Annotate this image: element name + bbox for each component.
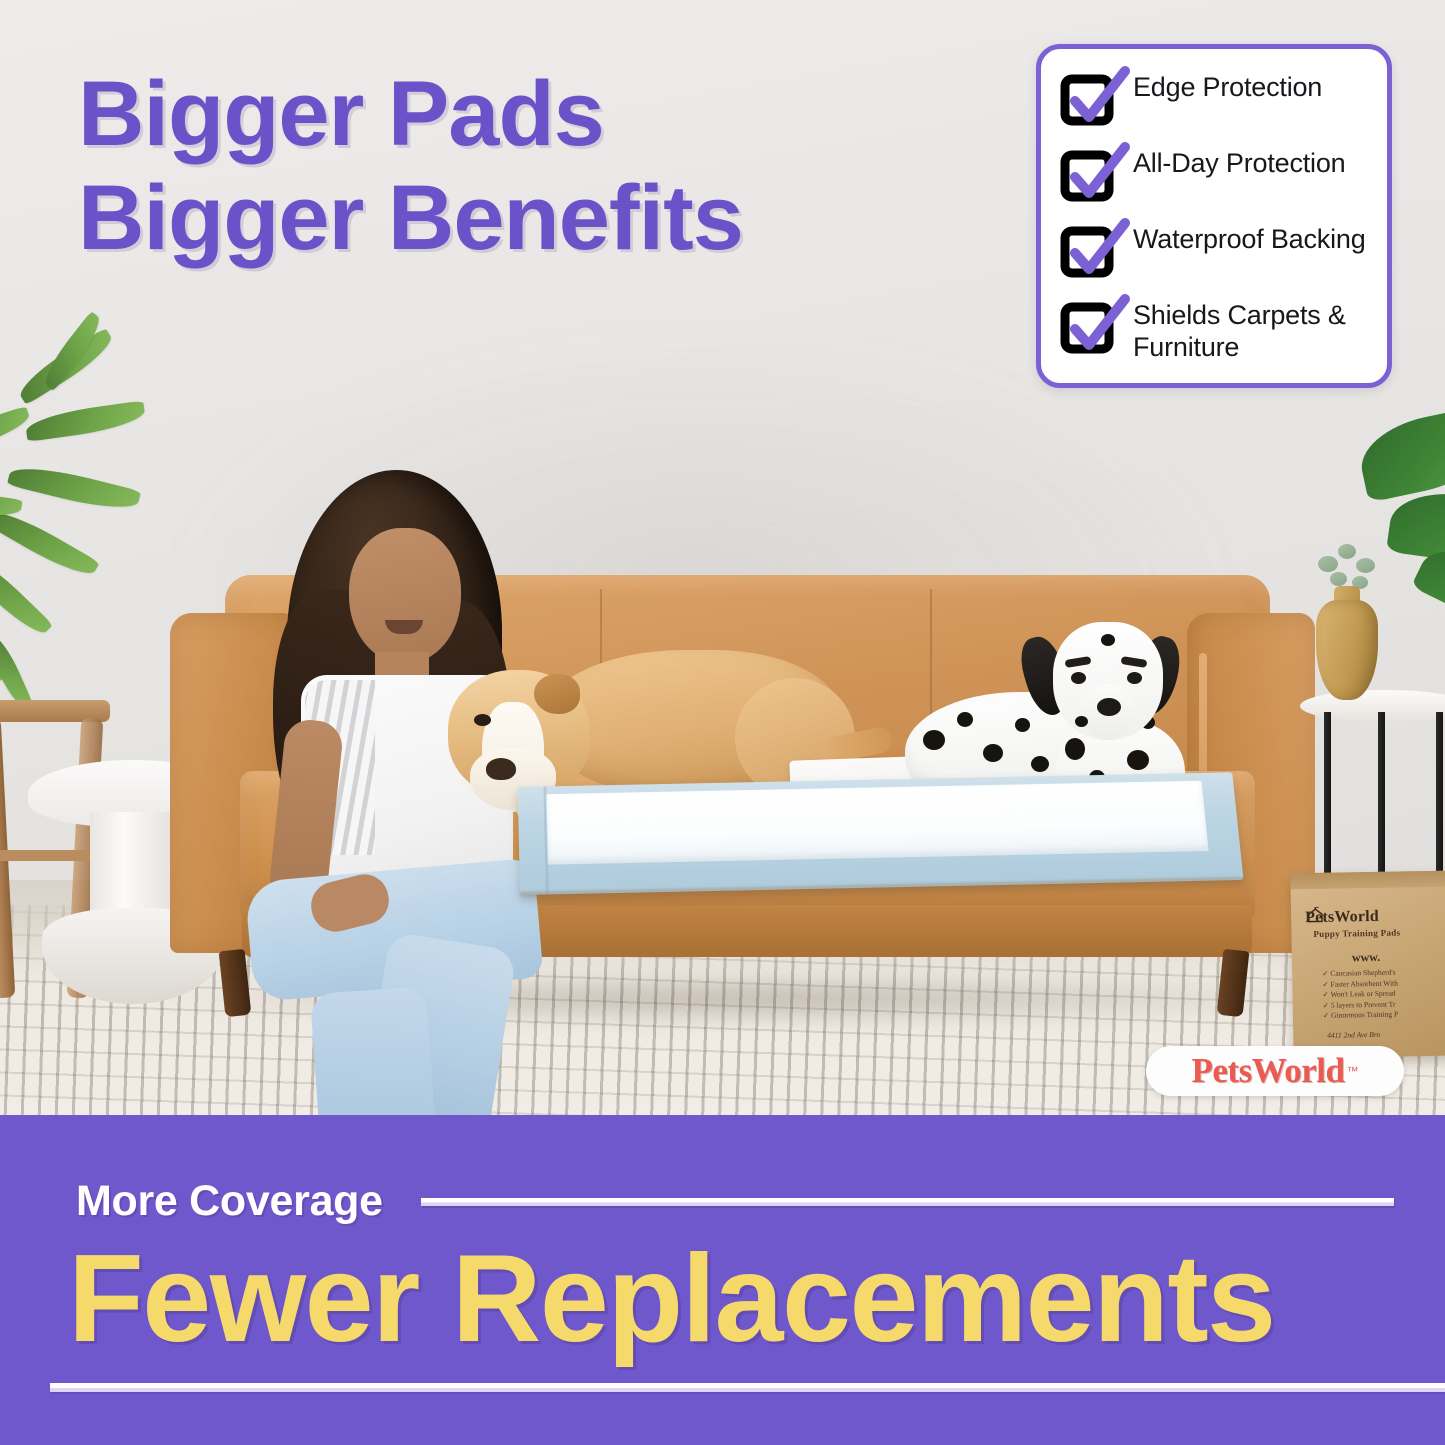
training-pad-main — [518, 772, 1244, 895]
house-plant-left — [0, 375, 190, 705]
headline-line-2: Bigger Benefits — [78, 166, 978, 270]
benefit-item: All-Day Protection — [1059, 147, 1369, 201]
checkbox-checked-icon — [1059, 73, 1117, 125]
checkbox-checked-icon — [1059, 301, 1117, 353]
box-address: 4411 2nd Ave Bro — [1327, 1030, 1380, 1040]
benefit-label: Edge Protection — [1133, 71, 1322, 103]
box-tagline: Puppy Training Pads — [1313, 928, 1400, 940]
banner-headline: Fewer Replacements — [68, 1237, 1408, 1361]
benefit-label: Shields Carpets & Furniture — [1133, 299, 1369, 363]
banner-eyebrow-row: More Coverage — [76, 1177, 1394, 1226]
banner-divider-bottom — [50, 1383, 1445, 1392]
benefit-item: Waterproof Backing — [1059, 223, 1369, 277]
product-box: PetsWorld Puppy Training Pads www. ✓ Cau… — [1290, 871, 1445, 1059]
page-title: Bigger Pads Bigger Benefits — [78, 62, 978, 270]
eucalyptus-sprig — [1318, 556, 1338, 572]
box-website: www. — [1352, 950, 1381, 965]
bottom-banner: More Coverage Fewer Replacements — [0, 1115, 1445, 1445]
banner-eyebrow: More Coverage — [76, 1177, 383, 1226]
trademark-symbol: ™ — [1346, 1064, 1358, 1078]
checkbox-checked-icon — [1059, 225, 1117, 277]
banner-divider-top — [421, 1198, 1394, 1206]
product-marketing-image: PetsWorld Puppy Training Pads www. ✓ Cau… — [0, 0, 1445, 1445]
brand-logo: PetsWorld ™ — [1146, 1046, 1404, 1096]
benefit-label: Waterproof Backing — [1133, 223, 1366, 255]
wooden-vase — [1316, 600, 1378, 700]
headline-line-1: Bigger Pads — [78, 62, 978, 166]
benefits-card: Edge Protection All-Day Protection Water… — [1036, 44, 1392, 388]
benefit-item: Shields Carpets & Furniture — [1059, 299, 1369, 363]
box-brand: PetsWorld — [1305, 907, 1441, 927]
brand-name: PetsWorld — [1192, 1051, 1345, 1091]
checkbox-checked-icon — [1059, 149, 1117, 201]
benefit-label: All-Day Protection — [1133, 147, 1345, 179]
box-bullet-list: ✓ Caucasian Shepherd's ✓ Faster Absorben… — [1322, 966, 1445, 1021]
monstera-plant — [1360, 418, 1445, 608]
benefit-item: Edge Protection — [1059, 71, 1369, 125]
